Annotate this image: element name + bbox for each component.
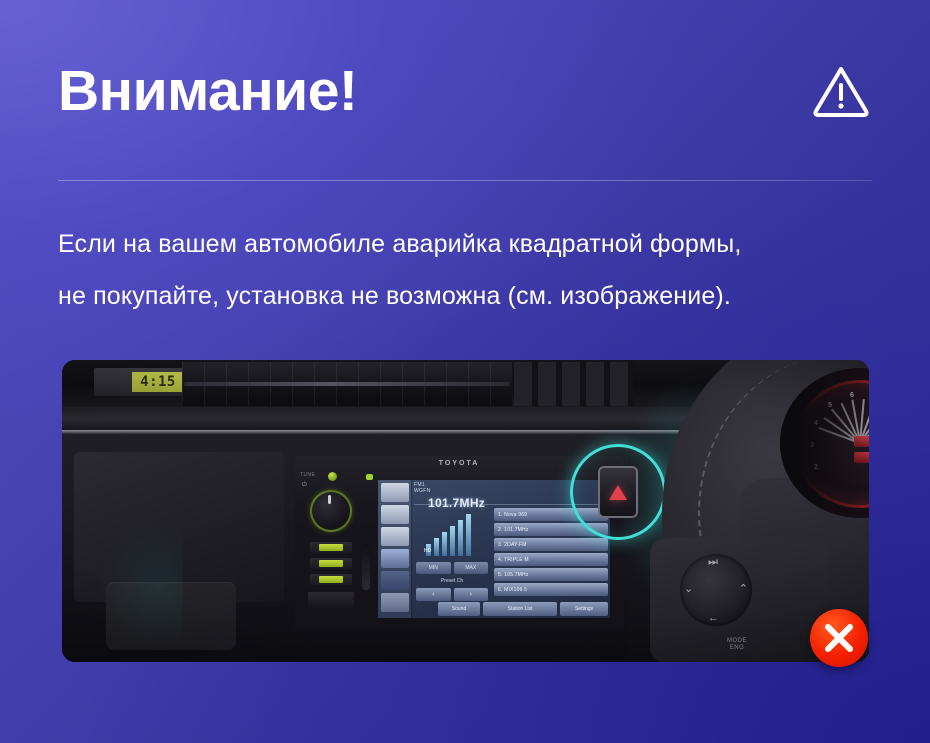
clock-lcd-value: 4:15 bbox=[132, 372, 184, 392]
glovebox-panel bbox=[74, 452, 284, 602]
page-title: Внимание! bbox=[58, 55, 872, 127]
sound-button[interactable]: Sound bbox=[438, 602, 480, 616]
preset-prev-button[interactable]: ‹ bbox=[416, 588, 451, 601]
screen-bottom-bar[interactable]: Sound Station List Settings bbox=[438, 602, 608, 616]
screen-header: FM1 WGFN 101.7MHz bbox=[414, 482, 564, 510]
station-list-button[interactable]: Station List bbox=[483, 602, 557, 616]
body-line-2: не покупайте, установка не возможна (см.… bbox=[58, 270, 888, 322]
signal-minmax: MIN MAX bbox=[416, 562, 488, 574]
side-menu-item-2[interactable] bbox=[381, 527, 409, 546]
mode-button-label: MODE ENG bbox=[702, 638, 772, 652]
body-copy: Если на вашем автомобиле аварийка квадра… bbox=[58, 218, 888, 322]
mode-label-sub: ENG bbox=[702, 645, 772, 652]
radio-rds-label: WGFN bbox=[414, 488, 564, 494]
dpad-up-icon[interactable]: ⌃ bbox=[739, 582, 748, 595]
instrument-cluster: 2 3 4 5 6 bbox=[780, 368, 869, 518]
side-menu-item-3[interactable] bbox=[381, 549, 409, 568]
hazard-button-square[interactable] bbox=[598, 466, 638, 518]
hazard-triangle-icon bbox=[609, 485, 627, 500]
preset-next-button[interactable]: › bbox=[454, 588, 489, 601]
volume-knob[interactable] bbox=[310, 490, 352, 532]
head-unit-button-2[interactable] bbox=[310, 558, 352, 569]
dpad-back-icon[interactable]: ← bbox=[708, 612, 719, 624]
signal-max-label: MAX bbox=[454, 562, 489, 574]
preset-arrows[interactable]: ‹ › bbox=[416, 588, 488, 601]
head-unit-button-1[interactable] bbox=[310, 542, 352, 553]
body-line-1: Если на вашем автомобиле аварийка квадра… bbox=[58, 218, 888, 270]
signal-min-label: MIN bbox=[416, 562, 451, 574]
head-unit-led-b bbox=[366, 474, 373, 480]
head-unit-sub-label: TUNE bbox=[300, 472, 315, 478]
red-x-badge bbox=[810, 609, 868, 667]
station-item[interactable]: 6. MIX106.5 bbox=[494, 583, 608, 596]
preset-channel-label: Preset Ch bbox=[414, 578, 490, 584]
screen-left-panel: HD MIN MAX Preset Ch ‹ › bbox=[414, 508, 490, 616]
hazard-button-highlight bbox=[570, 444, 666, 540]
vent-adjuster-bar bbox=[184, 382, 510, 386]
settings-button[interactable]: Settings bbox=[560, 602, 608, 616]
side-menu-item-0[interactable] bbox=[381, 483, 409, 502]
dpad-down-icon[interactable]: ⌄ bbox=[684, 582, 693, 595]
dpad-next-icon[interactable]: ⏭ bbox=[708, 556, 718, 569]
header-divider bbox=[58, 180, 872, 181]
glovebox-handle bbox=[106, 582, 236, 650]
hd-radio-label: HD bbox=[424, 548, 431, 554]
head-unit-disc-slot bbox=[308, 592, 354, 610]
cluster-shadow bbox=[780, 368, 869, 518]
side-menu-item-1[interactable] bbox=[381, 505, 409, 524]
warning-triangle-icon bbox=[810, 61, 872, 121]
head-unit-eject-slot[interactable] bbox=[362, 544, 370, 590]
screen-side-menu[interactable] bbox=[378, 480, 412, 618]
car-dashboard-photo: 4:15 TOYOTA TUNE ⏻ bbox=[62, 360, 869, 662]
side-menu-item-5[interactable] bbox=[381, 593, 409, 612]
head-unit-button-3[interactable] bbox=[310, 574, 352, 585]
power-icon: ⏻ bbox=[302, 482, 307, 489]
mode-label-main: MODE bbox=[702, 638, 772, 645]
side-menu-item-4[interactable] bbox=[381, 571, 409, 590]
steering-dpad[interactable]: ⏭ ⌄ ⌃ ← bbox=[680, 554, 752, 626]
head-unit-led-a bbox=[328, 472, 337, 481]
right-air-vent bbox=[514, 362, 634, 406]
station-item[interactable]: 4. TRIPLE M bbox=[494, 553, 608, 566]
header: Внимание! bbox=[58, 55, 872, 127]
station-item[interactable]: 5. 105.7MHz bbox=[494, 568, 608, 581]
